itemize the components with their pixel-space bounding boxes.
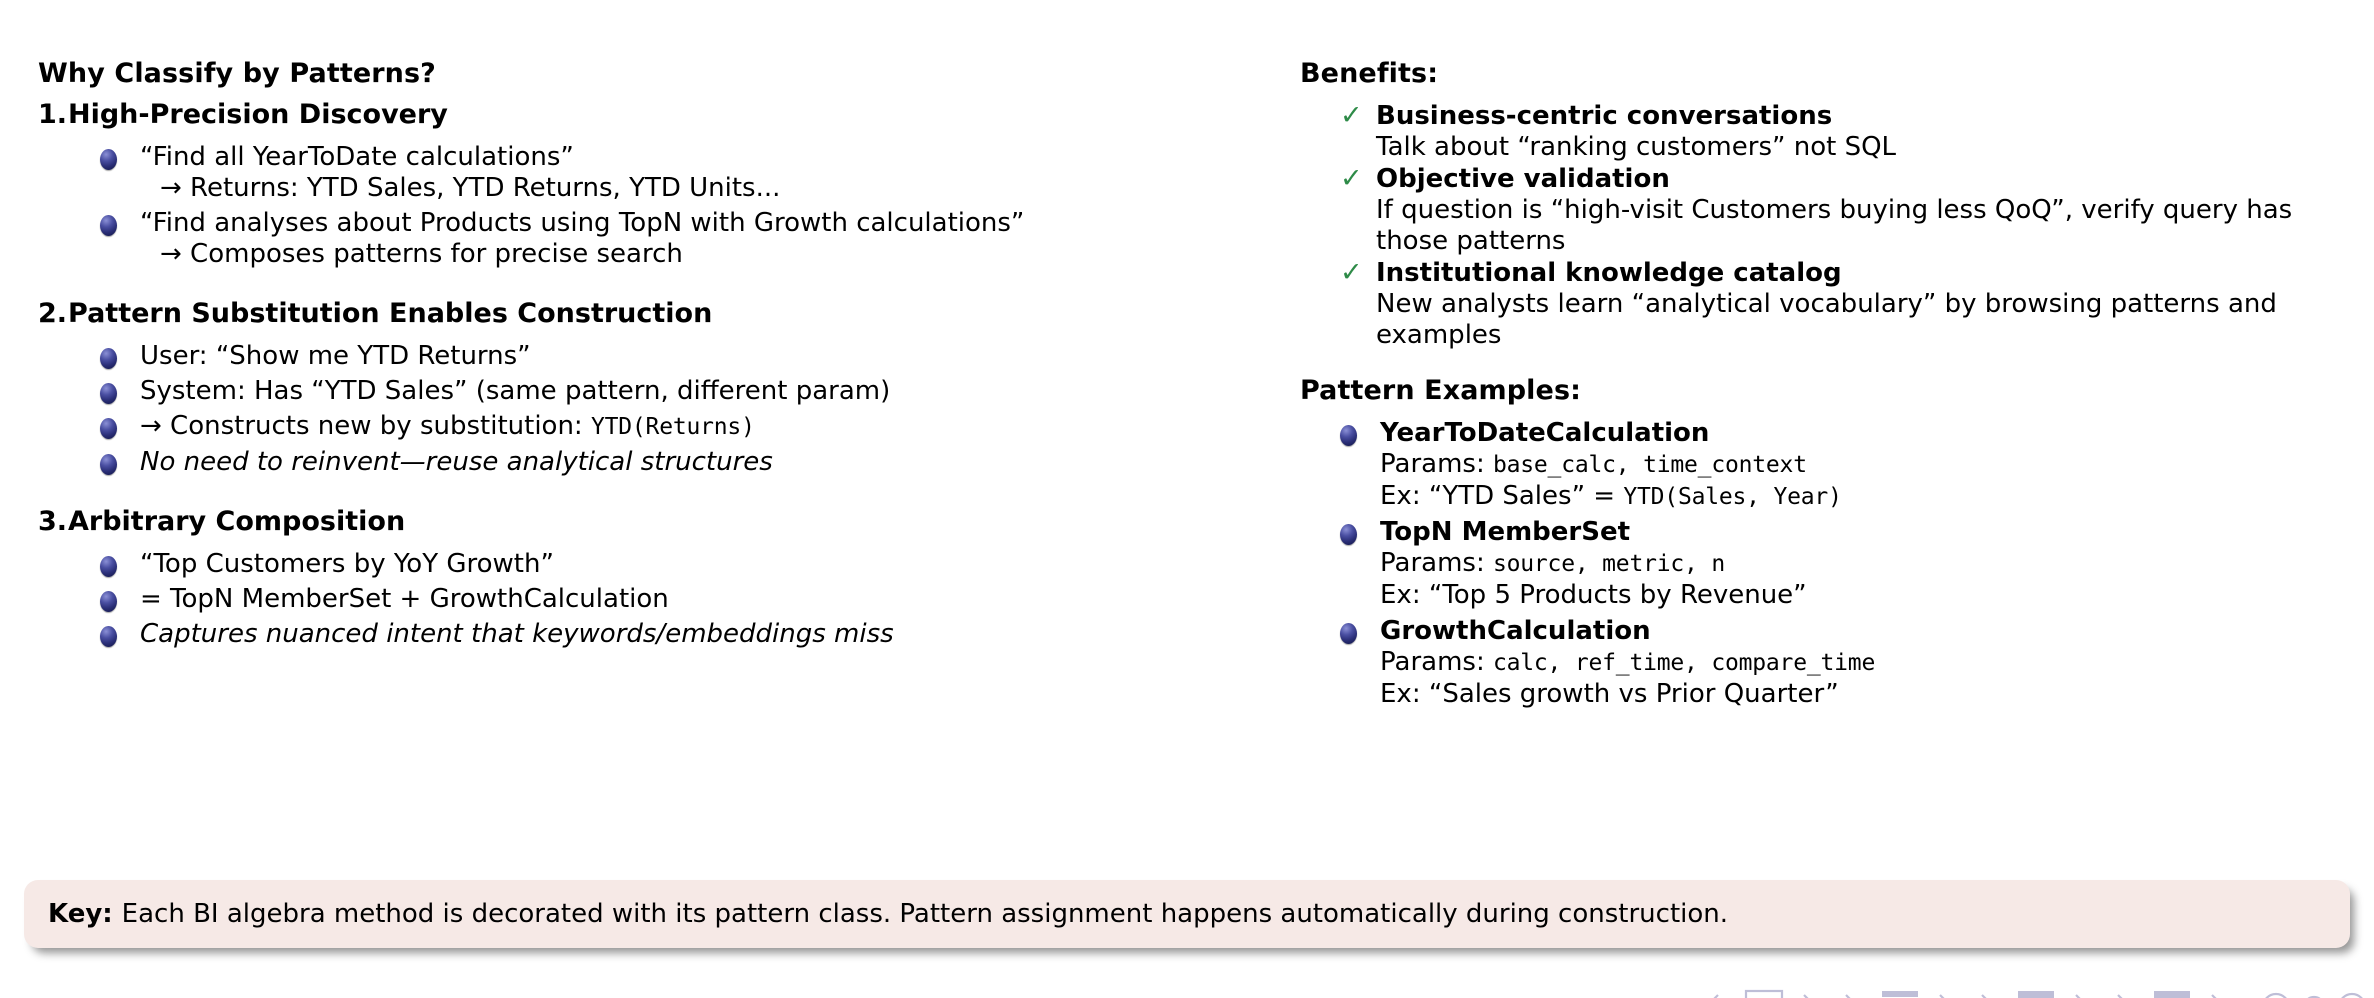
ball-bullet-icon: [100, 454, 117, 475]
ball-bullet-icon: [1340, 425, 1357, 446]
list-item: TopN MemberSet Params: source, metric, n…: [1340, 517, 2360, 612]
ex-prefix: “YTD Sales” =: [1429, 481, 1624, 511]
list-item-text: Captures nuanced intent that keywords/em…: [140, 619, 894, 649]
ball-bullet-icon: [100, 591, 117, 612]
list-item: ✓ Institutional knowledge catalog New an…: [1340, 258, 2360, 351]
ex-label: Ex:: [1380, 679, 1429, 709]
list-item: “Find analyses about Products using TopN…: [100, 208, 1300, 270]
left-column: Why Classify by Patterns? 1.High-Precisi…: [0, 60, 1300, 654]
ex-label: Ex:: [1380, 481, 1429, 511]
ball-bullet-icon: [100, 418, 117, 439]
params-label: Params:: [1380, 647, 1493, 677]
list-item: “Find all YearToDate calculations” → Ret…: [100, 142, 1300, 204]
ex-label: Ex:: [1380, 580, 1429, 610]
list-item-text: No need to reinvent—reuse analytical str…: [140, 447, 773, 477]
list-item: YearToDateCalculation Params: base_calc,…: [1340, 418, 2360, 513]
list-item: ✓ Business-centric conversations Talk ab…: [1340, 101, 2360, 163]
pattern-params-line: Params: source, metric, n: [1380, 548, 2360, 580]
group-1-title: High-Precision Discovery: [68, 99, 448, 130]
nav-frame-icon: [1882, 991, 1918, 998]
numbered-group-1: 1.High-Precision Discovery “Find all Yea…: [38, 101, 1300, 270]
list-item: → Constructs new by substitution: YTD(Re…: [100, 411, 1300, 443]
list-item-text: “Find analyses about Products using TopN…: [140, 208, 1024, 238]
list-item-code: YTD(Returns): [591, 414, 755, 440]
group-2-number: 2.: [38, 300, 68, 327]
ball-bullet-icon: [100, 215, 117, 236]
list-item: “Top Customers by YoY Growth”: [100, 549, 1300, 580]
slide-canvas: Why Classify by Patterns? 1.High-Precisi…: [0, 0, 2374, 998]
slide-columns: Why Classify by Patterns? 1.High-Precisi…: [0, 60, 2374, 850]
list-item-text: = TopN MemberSet + GrowthCalculation: [140, 584, 669, 614]
list-item-text: User: “Show me YTD Returns”: [140, 341, 531, 371]
nav-slide-icon: [1746, 991, 1782, 998]
key-callout-box: Key:Each BI algebra method is decorated …: [24, 880, 2350, 948]
ball-bullet-icon: [1340, 524, 1357, 545]
key-text: Each BI algebra method is decorated with…: [122, 899, 1728, 929]
ball-bullet-icon: [100, 383, 117, 404]
pattern-params-line: Params: base_calc, time_context: [1380, 449, 2360, 481]
list-item-text: → Constructs new by substitution:: [140, 411, 591, 441]
group-3-list: “Top Customers by YoY Growth” = TopN Mem…: [38, 549, 1300, 650]
benefits-list: ✓ Business-centric conversations Talk ab…: [1300, 101, 2360, 351]
list-item-arrow-note: → Returns: YTD Sales, YTD Returns, YTD U…: [140, 173, 1300, 204]
list-item: = TopN MemberSet + GrowthCalculation: [100, 584, 1300, 615]
list-item: ✓ Objective validation If question is “h…: [1340, 164, 2360, 257]
pattern-name: GrowthCalculation: [1380, 616, 1651, 646]
pattern-name: YearToDateCalculation: [1380, 418, 1709, 448]
key-label: Key:: [48, 899, 113, 929]
benefit-description: Talk about “ranking customers” not SQL: [1376, 132, 2360, 163]
pattern-example-line: Ex: “Sales growth vs Prior Quarter”: [1380, 679, 2360, 711]
pattern-example-line: Ex: “YTD Sales” = YTD(Sales, Year): [1380, 481, 2360, 513]
benefits-block: Benefits: ✓ Business-centric conversatio…: [1300, 60, 2360, 351]
ex-prefix: “Top 5 Products by Revenue”: [1429, 580, 1807, 610]
check-icon: ✓: [1340, 166, 1366, 192]
list-item-text: “Find all YearToDate calculations”: [140, 142, 574, 172]
benefit-title: Objective validation: [1376, 164, 1670, 194]
group-3-heading: 3.Arbitrary Composition: [38, 508, 1300, 535]
right-column: Benefits: ✓ Business-centric conversatio…: [1300, 60, 2360, 737]
ball-bullet-icon: [100, 149, 117, 170]
benefit-description: If question is “high-visit Customers buy…: [1376, 195, 2360, 257]
ball-bullet-icon: [100, 556, 117, 577]
pattern-examples-title: Pattern Examples:: [1300, 377, 2360, 404]
benefit-title: Business-centric conversations: [1376, 101, 1832, 131]
numbered-group-2: 2.Pattern Substitution Enables Construct…: [38, 300, 1300, 478]
list-item-text: System: Has “YTD Sales” (same pattern, d…: [140, 376, 890, 406]
ex-code: YTD(Sales, Year): [1623, 484, 1841, 510]
nav-forward-icon: [2339, 994, 2365, 998]
list-item: System: Has “YTD Sales” (same pattern, d…: [100, 376, 1300, 407]
ball-bullet-icon: [1340, 623, 1357, 644]
list-item: No need to reinvent—reuse analytical str…: [100, 447, 1300, 478]
beamer-navigation-symbols[interactable]: [1706, 977, 2366, 998]
left-column-title: Why Classify by Patterns?: [38, 60, 1300, 87]
params-value: base_calc, time_context: [1493, 452, 1807, 478]
nav-section-icon: [2154, 991, 2190, 998]
list-item-text: “Top Customers by YoY Growth”: [140, 549, 554, 579]
group-3-number: 3.: [38, 508, 68, 535]
nav-subsection-icon: [2018, 991, 2054, 998]
numbered-group-3: 3.Arbitrary Composition “Top Customers b…: [38, 508, 1300, 650]
group-2-heading: 2.Pattern Substitution Enables Construct…: [38, 300, 1300, 327]
group-1-number: 1.: [38, 101, 68, 128]
benefit-title: Institutional knowledge catalog: [1376, 258, 1842, 288]
list-item: Captures nuanced intent that keywords/em…: [100, 619, 1300, 650]
params-label: Params:: [1380, 449, 1493, 479]
group-3-title: Arbitrary Composition: [68, 506, 405, 537]
group-1-heading: 1.High-Precision Discovery: [38, 101, 1300, 128]
list-item: GrowthCalculation Params: calc, ref_time…: [1340, 616, 2360, 711]
params-label: Params:: [1380, 548, 1493, 578]
group-1-list: “Find all YearToDate calculations” → Ret…: [38, 142, 1300, 270]
check-icon: ✓: [1340, 103, 1366, 129]
group-2-list: User: “Show me YTD Returns” System: Has …: [38, 341, 1300, 478]
check-icon: ✓: [1340, 260, 1366, 286]
ball-bullet-icon: [100, 626, 117, 647]
nav-document-icon: [2263, 994, 2289, 998]
benefits-title: Benefits:: [1300, 60, 2360, 87]
ball-bullet-icon: [100, 348, 117, 369]
pattern-params-line: Params: calc, ref_time, compare_time: [1380, 647, 2360, 679]
pattern-examples-list: YearToDateCalculation Params: base_calc,…: [1300, 418, 2360, 711]
benefit-description: New analysts learn “analytical vocabular…: [1376, 289, 2360, 351]
pattern-name: TopN MemberSet: [1380, 517, 1630, 547]
pattern-example-line: Ex: “Top 5 Products by Revenue”: [1380, 580, 2360, 612]
pattern-examples-block: Pattern Examples: YearToDateCalculation …: [1300, 377, 2360, 711]
params-value: calc, ref_time, compare_time: [1493, 650, 1875, 676]
group-2-title: Pattern Substitution Enables Constructio…: [68, 298, 712, 329]
list-item-arrow-note: → Composes patterns for precise search: [140, 239, 1300, 270]
list-item: User: “Show me YTD Returns”: [100, 341, 1300, 372]
ex-prefix: “Sales growth vs Prior Quarter”: [1429, 679, 1839, 709]
params-value: source, metric, n: [1493, 551, 1725, 577]
